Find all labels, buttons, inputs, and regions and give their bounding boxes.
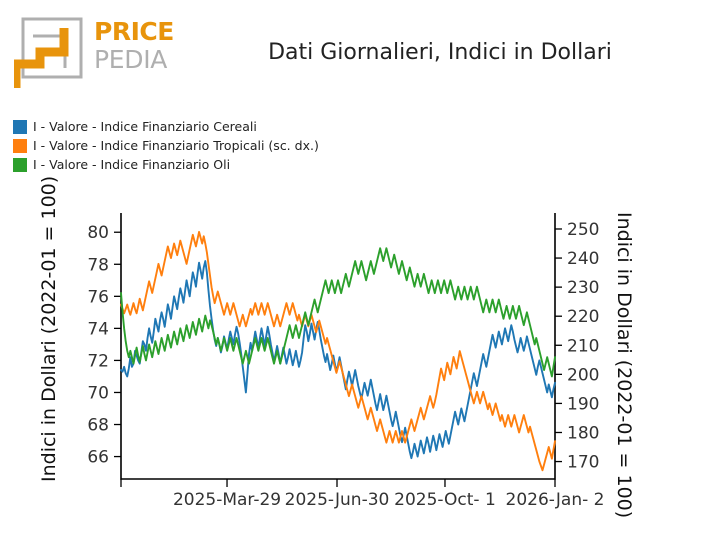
y-axis-left-tick-label: 78 (87, 255, 109, 275)
axis-layer (114, 213, 562, 487)
y-axis-right-tick-label: 250 (567, 220, 599, 240)
y-axis-left-tick-label: 74 (87, 319, 109, 339)
y-axis-left-tick-label: 80 (87, 223, 109, 243)
y-axis-right-tick-label: 240 (567, 249, 599, 269)
x-axis-tick-label: 2025-Jun-30 (285, 490, 390, 510)
y-axis-right-tick-label: 220 (567, 307, 599, 327)
chart-plot-area: 6668707274767880170180190200210220230240… (0, 0, 712, 555)
series-line-2 (121, 248, 555, 376)
y-axis-left-tick-label: 76 (87, 287, 109, 307)
x-axis-tick-label: 2026-Jan- 2 (506, 490, 605, 510)
y-axis-right-tick-label: 190 (567, 394, 599, 414)
y-axis-right-tick-label: 230 (567, 278, 599, 298)
y-axis-left-tick-label: 70 (87, 383, 109, 403)
series-layer (121, 232, 555, 470)
y-axis-left-tick-label: 66 (87, 448, 109, 468)
y-axis-right-tick-label: 200 (567, 365, 599, 385)
y-axis-left-tick-label: 72 (87, 351, 109, 371)
y-axis-right-tick-label: 210 (567, 336, 599, 356)
y-axis-left-tick-label: 68 (87, 416, 109, 436)
series-line-0 (121, 261, 555, 458)
x-axis-tick-label: 2025-Mar-29 (173, 490, 281, 510)
chart-svg: 6668707274767880170180190200210220230240… (0, 0, 712, 555)
chart-page: PRICE PEDIA Dati Giornalieri, Indici in … (0, 0, 712, 555)
y-axis-right-tick-label: 170 (567, 453, 599, 473)
y-axis-right-tick-label: 180 (567, 423, 599, 443)
x-axis-tick-label: 2025-Oct- 1 (394, 490, 496, 510)
